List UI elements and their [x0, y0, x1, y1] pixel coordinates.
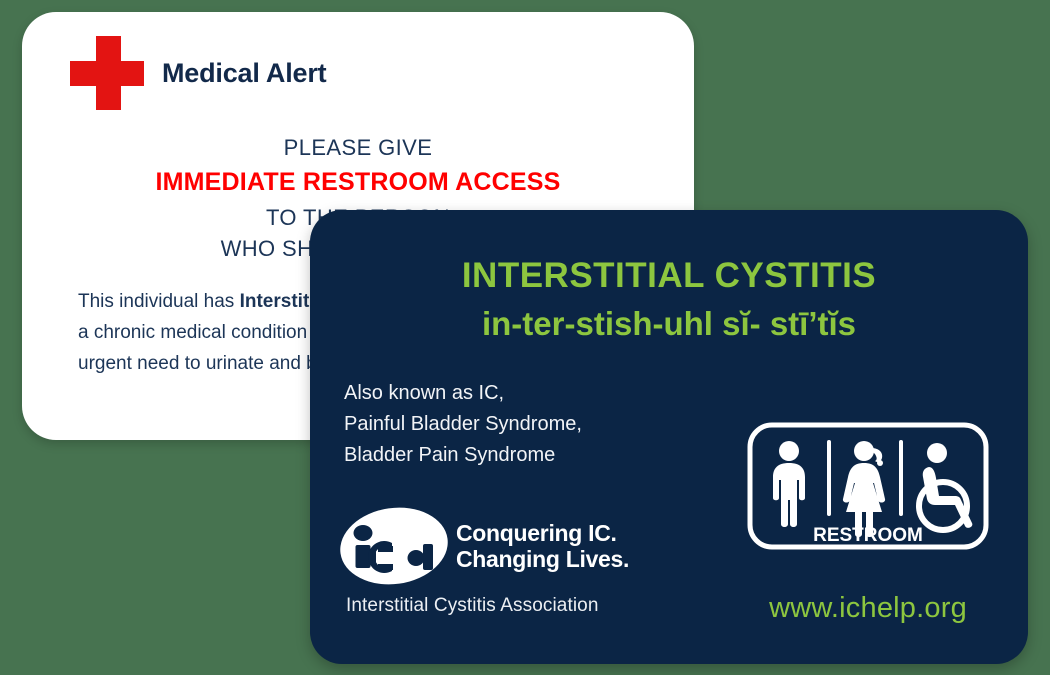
ica-tagline-line-2: Changing Lives. [456, 546, 629, 572]
medical-alert-title: Medical Alert [162, 58, 326, 89]
also-known-as: Also known as IC, Painful Bladder Syndro… [344, 378, 582, 471]
medical-alert-header: Medical Alert [70, 36, 326, 110]
card-stage: Medical Alert PLEASE GIVE IMMEDIATE REST… [0, 0, 1050, 675]
ica-tagline: Conquering IC. Changing Lives. [456, 520, 629, 572]
restroom-sign-label: RESTROOM [813, 525, 923, 546]
restroom-divider-2 [899, 440, 903, 516]
description-prefix: This individual has [78, 291, 240, 312]
restroom-divider-1 [827, 440, 831, 516]
ica-logo-row: Conquering IC. Changing Lives. [340, 508, 670, 584]
restroom-sign: RESTROOM [747, 422, 989, 550]
woman-icon [843, 441, 885, 537]
condition-pronunciation: in-ter-stish-uhl sĭ- stī’tĭs [340, 305, 998, 343]
wheelchair-icon [919, 443, 972, 530]
ica-logo-mark [340, 508, 448, 584]
man-icon [773, 441, 805, 527]
interstitial-cystitis-card: INTERSTITIAL CYSTITIS in-ter-stish-uhl s… [310, 210, 1028, 664]
condition-title: INTERSTITIAL CYSTITIS [340, 256, 998, 296]
aka-line-1: Also known as IC, [344, 378, 582, 409]
ica-tagline-line-1: Conquering IC. [456, 520, 629, 546]
notice-line-1: PLEASE GIVE [22, 132, 694, 163]
red-cross-icon [70, 36, 144, 110]
ica-website-url[interactable]: www.ichelp.org [747, 592, 989, 625]
ica-lettermark-icon [340, 508, 448, 584]
ica-logo: Conquering IC. Changing Lives. Interstit… [340, 508, 670, 617]
aka-line-3: Bladder Pain Syndrome [344, 440, 582, 471]
notice-emphasis: IMMEDIATE RESTROOM ACCESS [22, 165, 694, 199]
ica-organization-name: Interstitial Cystitis Association [346, 595, 670, 617]
aka-line-2: Painful Bladder Syndrome, [344, 409, 582, 440]
